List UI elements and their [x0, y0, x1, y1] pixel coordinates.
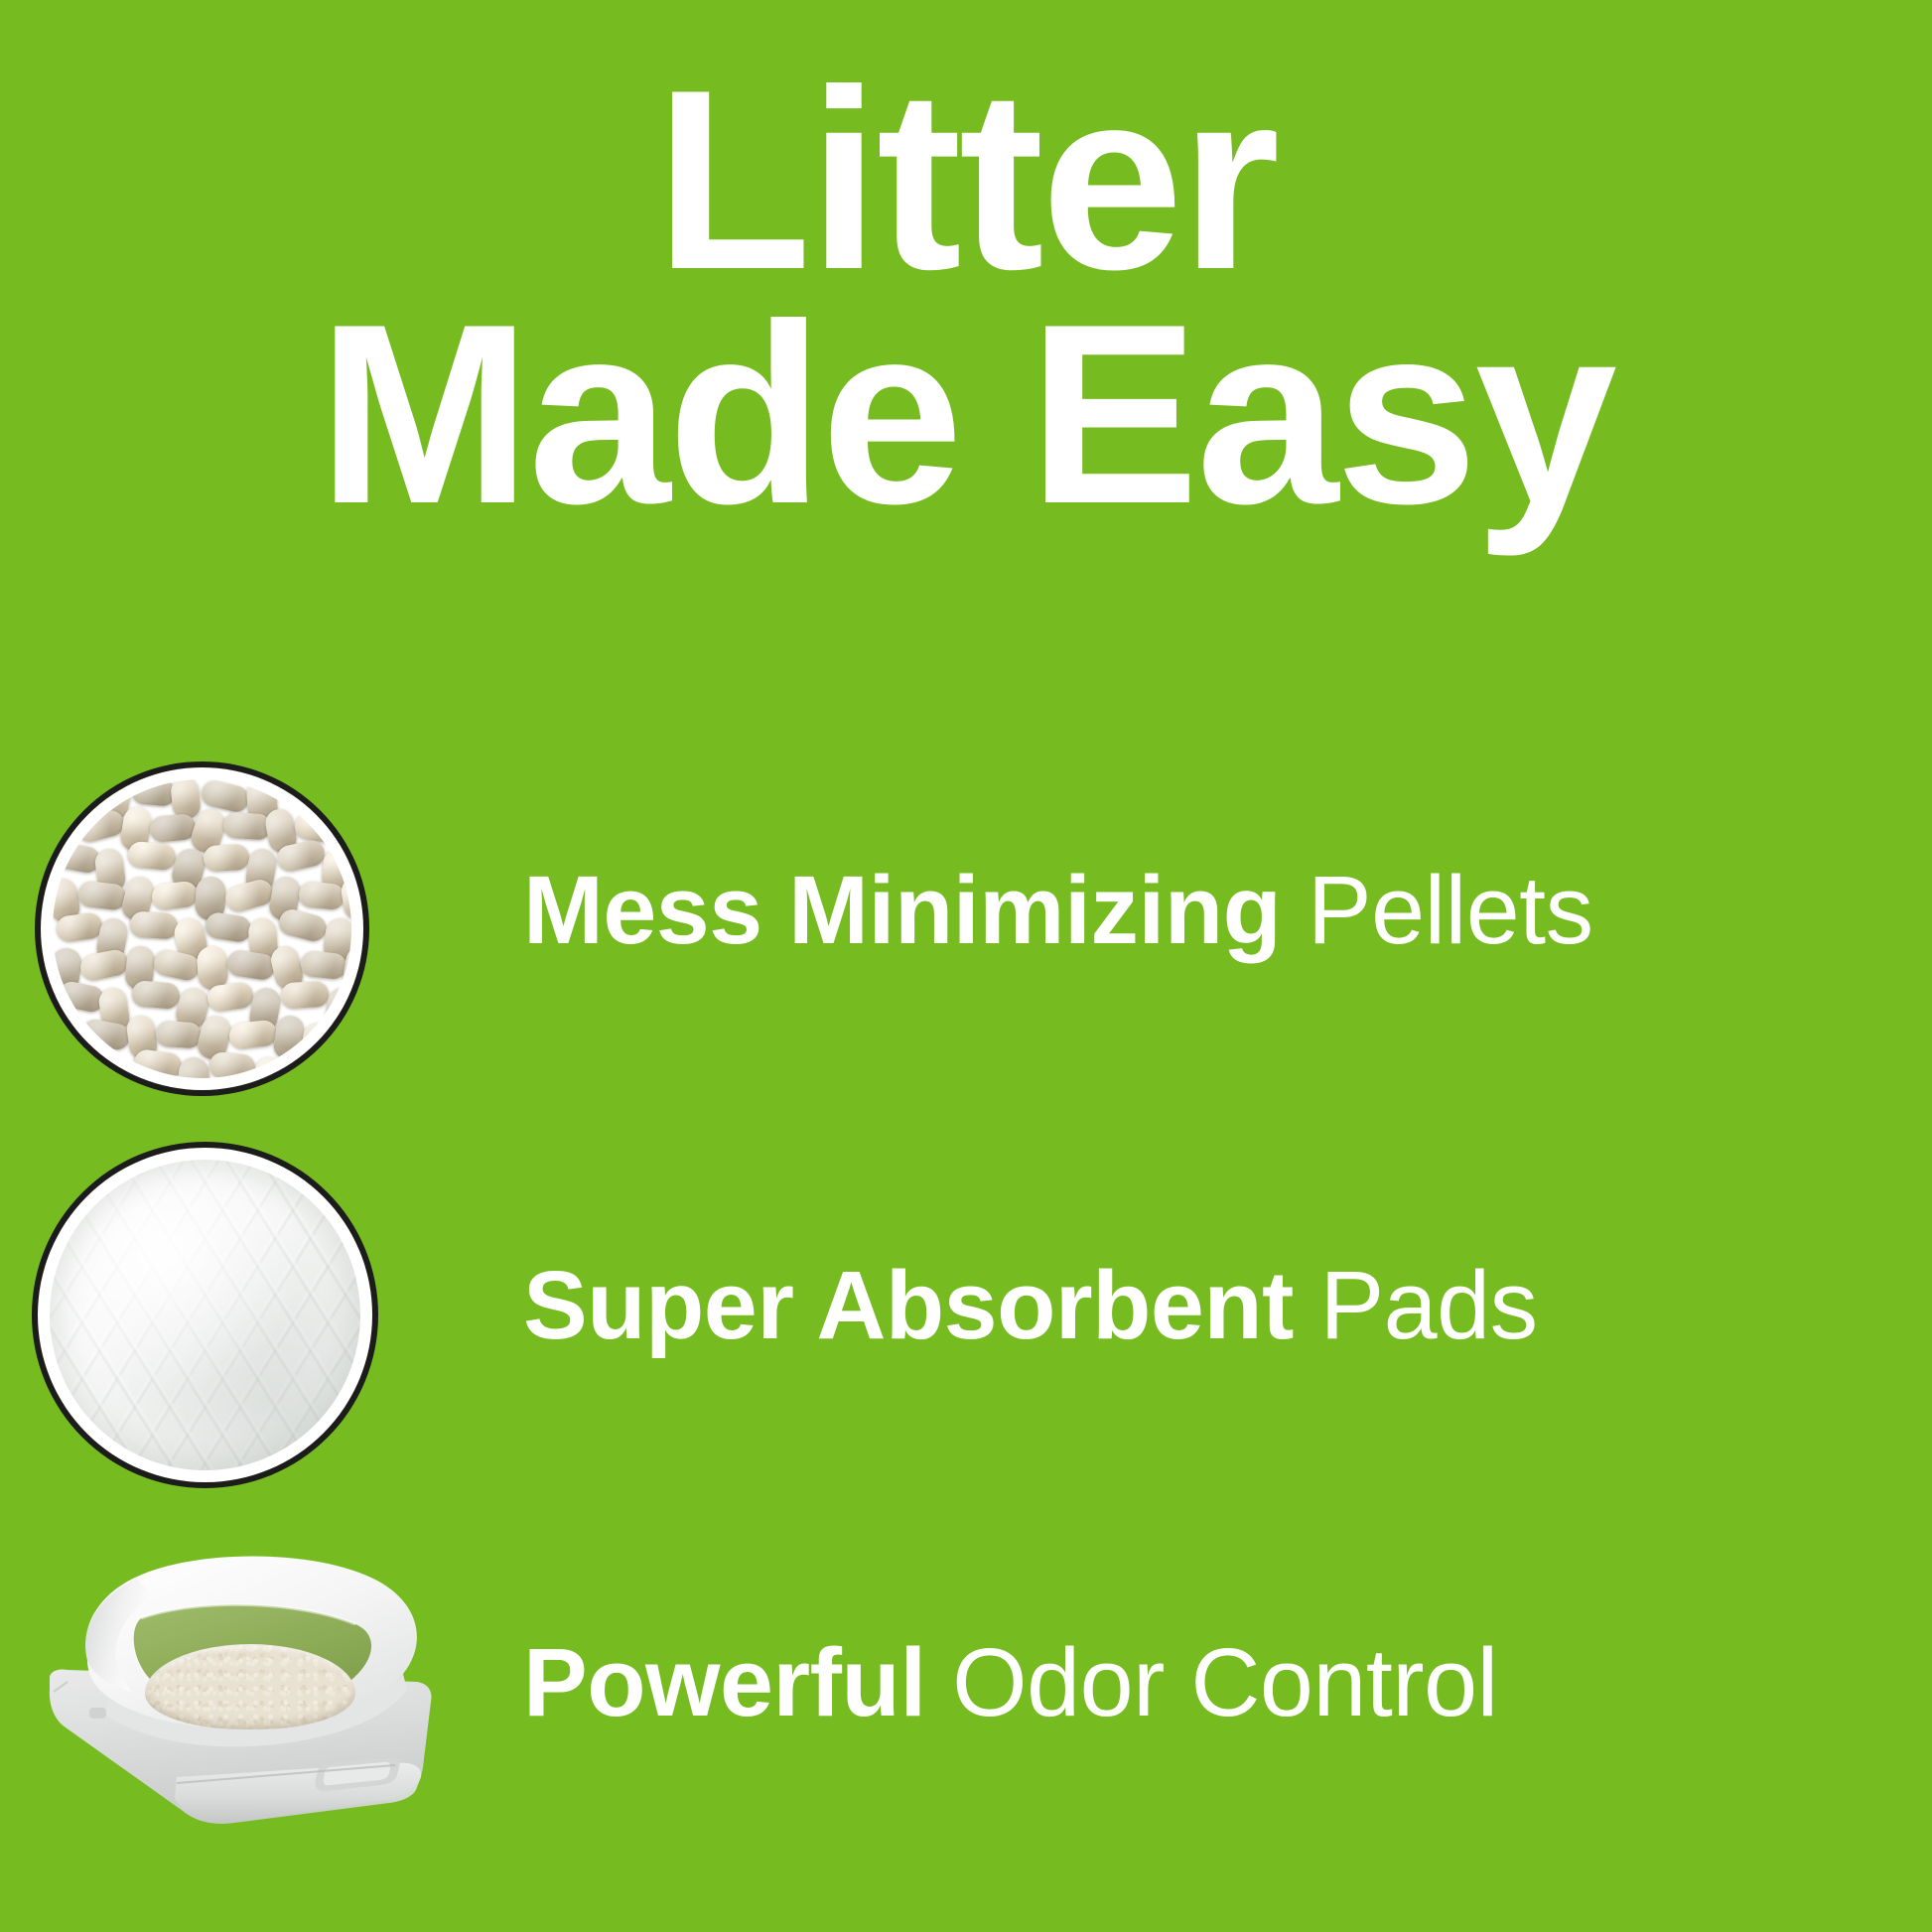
litter-pellet: [177, 1055, 212, 1078]
litter-pellet: [60, 1051, 107, 1078]
feature-list: Mess Minimizing Pellets Su: [0, 695, 1932, 1932]
feature-label-strong: Mess Minimizing: [523, 856, 1281, 964]
litter-pellet: [155, 1020, 203, 1048]
feature-media-litterbox: [0, 1489, 467, 1876]
litter-pellet: [129, 910, 179, 939]
litter-box-image: [28, 1533, 445, 1849]
feature-label-light: Pads: [1294, 1251, 1538, 1359]
litter-pellet: [131, 980, 181, 1010]
litter-pellet: [222, 877, 275, 914]
litter-pellet: [56, 911, 104, 942]
litter-pellet: [301, 1017, 351, 1052]
feature-label-pads: Super Absorbent Pads: [467, 1255, 1932, 1356]
feature-label-light: Pellets: [1281, 856, 1592, 964]
litter-pellet: [127, 841, 177, 872]
litter-pellets-swatch: [35, 761, 369, 1096]
headline-line-2: Made Easy: [0, 286, 1932, 542]
litter-pellet: [207, 981, 255, 1012]
pellets-texture: [53, 779, 351, 1078]
litter-pellet: [282, 1049, 332, 1078]
litter-pellet: [222, 811, 272, 840]
feature-label-odor: Powerful Odor Control: [467, 1632, 1932, 1733]
feature-label-pellets: Mess Minimizing Pellets: [467, 860, 1932, 961]
pad-texture: [50, 1160, 360, 1470]
headline-line-1: Litter: [0, 52, 1932, 308]
feature-label-strong: Super Absorbent: [523, 1251, 1294, 1359]
litter-pellet: [300, 950, 347, 981]
feature-row-odor: Powerful Odor Control: [0, 1489, 1932, 1876]
litter-pellet: [280, 981, 329, 1009]
feature-media-pellets: [0, 717, 467, 1104]
feature-row-pads: Super Absorbent Pads: [0, 1112, 1932, 1499]
litter-pellet: [276, 906, 329, 944]
swatch-content-pellets: [53, 779, 351, 1078]
litter-pellet: [149, 813, 197, 843]
litter-pellet: [131, 779, 177, 807]
absorbent-pad-swatch: [32, 1142, 378, 1488]
swatch-content-pads: [50, 1160, 360, 1470]
litter-pellet: [132, 1048, 183, 1078]
litter-pellet: [208, 1051, 256, 1078]
feature-media-pads: [0, 1112, 467, 1499]
feature-label-strong: Powerful: [523, 1628, 926, 1736]
pad-vignette: [50, 1160, 360, 1470]
product-feature-banner: Litter Made Easy Mess Minimizing Pellets: [0, 0, 1932, 1932]
litter-pellet: [78, 948, 130, 983]
litter-pellet: [151, 881, 199, 911]
headline-block: Litter Made Easy: [0, 52, 1932, 627]
litter-pellet: [74, 808, 127, 845]
litter-pellet: [204, 911, 253, 944]
litter-pellet: [228, 1020, 278, 1050]
litter-pellet: [298, 881, 345, 911]
feature-label-light: Odor Control: [926, 1628, 1498, 1736]
litter-pellet: [203, 844, 249, 872]
feature-row-pellets: Mess Minimizing Pellets: [0, 717, 1932, 1104]
